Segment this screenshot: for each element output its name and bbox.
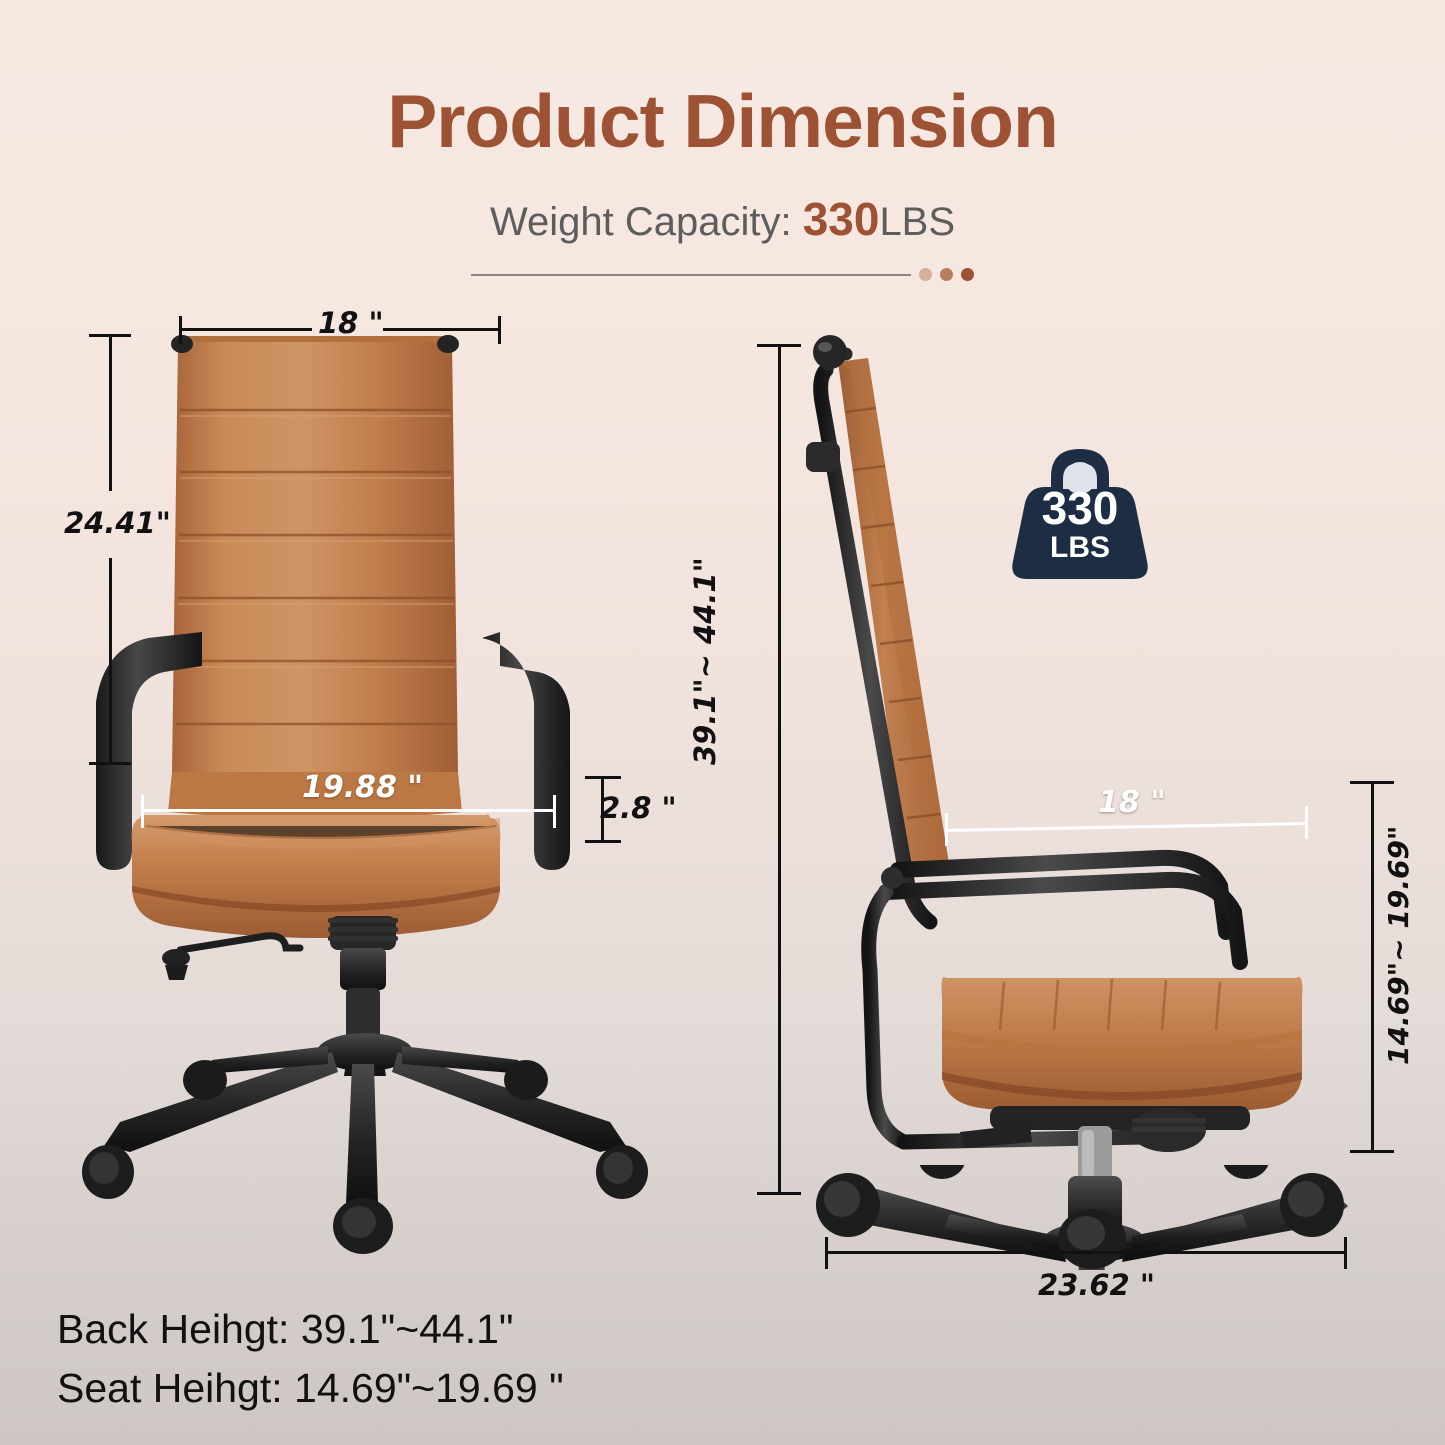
dim-seat-height-line — [1371, 783, 1374, 1152]
dim-front-width-line-a — [179, 328, 312, 331]
dim-back-height-line-b — [109, 558, 112, 764]
dim-total-height-label: 39.1"~ 44.1" — [688, 557, 722, 765]
badge-weight-value: 330 — [1005, 485, 1155, 531]
front-seat-cushion — [132, 814, 501, 938]
dim-base-width-line — [825, 1251, 1347, 1254]
weight-capacity-line: Weight Capacity: 330LBS — [0, 192, 1445, 246]
weight-capacity-label: Weight Capacity: — [490, 200, 803, 244]
dim-seat-depth-label: 18 " — [1098, 785, 1166, 820]
footer-seat-height: Seat Heihgt: 14.69"~19.69 " — [57, 1359, 564, 1418]
dim-seat-width-label: 19.88 " — [302, 770, 423, 805]
dim-seat-height-label: 14.69"~ 19.69" — [1382, 825, 1415, 1065]
side-view-casters — [790, 1165, 1350, 1285]
divider-dot-1 — [919, 268, 932, 281]
dim-front-width-line-b — [383, 328, 501, 331]
divider-line — [471, 274, 911, 276]
weight-capacity-value: 330 — [803, 193, 880, 245]
dim-seat-width-line — [141, 809, 556, 812]
footer-specs: Back Heihgt: 39.1"~44.1" Seat Heihgt: 14… — [57, 1300, 564, 1419]
side-backrest — [806, 335, 950, 922]
dim-back-height-label: 24.41" — [64, 506, 171, 540]
divider-dot-3 — [961, 268, 974, 281]
dim-seat-thickness-label: 2.8 " — [600, 791, 677, 825]
dim-front-width-label: 18 " — [318, 306, 384, 340]
dim-base-width-label: 23.62 " — [1038, 1268, 1155, 1302]
front-chair-base — [104, 1033, 626, 1204]
decorative-divider — [0, 268, 1445, 281]
dim-back-height-line-a — [109, 336, 112, 491]
infographic-canvas: Product Dimension Weight Capacity: 330LB… — [0, 0, 1445, 1445]
weight-capacity-unit: LBS — [879, 200, 955, 244]
divider-dot-2 — [940, 268, 953, 281]
side-seat-cushion — [942, 977, 1303, 1117]
dim-total-height-line — [778, 346, 781, 1194]
front-backrest — [168, 335, 462, 819]
footer-back-height: Back Heihgt: 39.1"~44.1" — [57, 1300, 564, 1359]
page-title: Product Dimension — [0, 78, 1445, 164]
front-gas-cylinder — [328, 916, 398, 1050]
tilt-lever — [180, 936, 300, 950]
badge-weight-unit: LBS — [1005, 533, 1155, 563]
weight-capacity-badge: 330 LBS — [1005, 437, 1155, 587]
